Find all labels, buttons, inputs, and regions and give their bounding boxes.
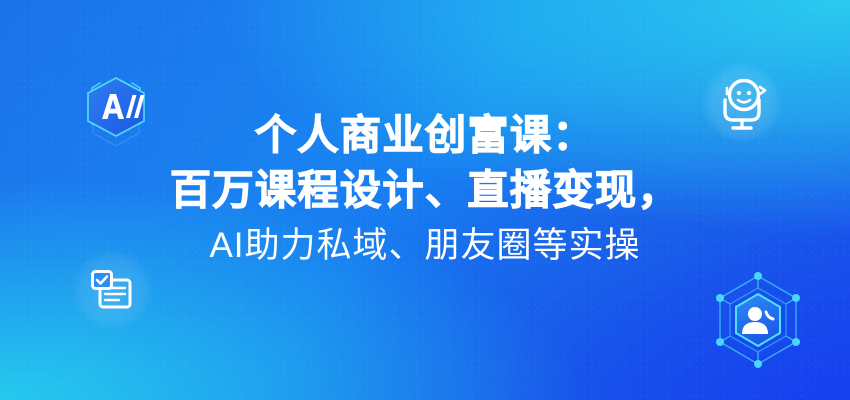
network-user-icon bbox=[706, 268, 810, 372]
course-promo-banner: 个人商业创富课： 百万课程设计、直播变现， AI助力私域、朋友圈等实操 bbox=[0, 0, 850, 400]
headline-line-2: 百万课程设计、直播变现， bbox=[0, 159, 850, 214]
network-user-icon-svg bbox=[706, 268, 810, 372]
headline-line-1: 个人商业创富课： bbox=[0, 112, 850, 159]
headline-line-3: AI助力私域、朋友圈等实操 bbox=[0, 214, 850, 263]
headline-block: 个人商业创富课： 百万课程设计、直播变现， AI助力私域、朋友圈等实操 bbox=[0, 112, 850, 263]
